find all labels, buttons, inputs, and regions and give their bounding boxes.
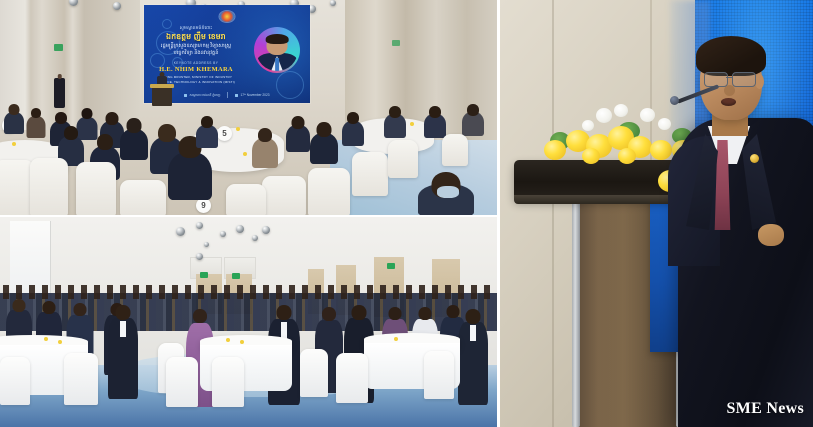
table-flower (243, 152, 247, 156)
member-head (127, 118, 142, 133)
member-body (168, 152, 212, 200)
attendee-head (419, 307, 432, 320)
event-chair (352, 152, 388, 196)
exit-sign-icon (392, 40, 400, 46)
member-body (286, 125, 310, 152)
slide-title-khmer: ឯកឧត្តម ញឹម ខេមរា (148, 32, 244, 43)
event-chair (336, 353, 368, 403)
exit-sign-icon (54, 44, 63, 51)
exit-sign-icon (200, 272, 208, 278)
location-icon (184, 94, 187, 97)
event-chair (212, 357, 244, 407)
wall-seam (552, 0, 554, 427)
audience-member (384, 106, 406, 138)
member-body (342, 121, 364, 146)
member-body (26, 116, 45, 138)
lectern-flowers (150, 84, 174, 88)
calendar-icon (235, 94, 238, 97)
slide-date-text: 17ᵗʰ November 2023 (240, 93, 269, 97)
speaker-hair (696, 36, 766, 76)
audience-member (120, 118, 148, 160)
audience-member (462, 104, 484, 136)
attendee-shirt (120, 321, 126, 337)
slide-welcome-khmer: សូមស្វាគមន៍ចំពោះ (150, 25, 242, 32)
eyeglasses-bridge (726, 77, 732, 78)
flower-yellow (544, 140, 566, 160)
audience-member (4, 104, 24, 134)
avatar-hair (266, 34, 289, 44)
table-flower (394, 337, 398, 341)
ceiling-sphere-decor (330, 0, 336, 6)
event-chair (424, 351, 454, 399)
slide-venue-text: សណ្ឋាគារ រាជធានី ភ្នំពេញ (189, 93, 220, 98)
event-chair (76, 162, 116, 215)
flower-white (614, 104, 628, 117)
flower-white (640, 108, 655, 122)
audience-member (252, 128, 278, 168)
table-flower (236, 127, 240, 131)
ceiling-sphere-decor (252, 235, 258, 241)
flower-white (582, 120, 594, 131)
attendee-head (73, 303, 86, 316)
member-head (389, 106, 401, 118)
attendee-head (13, 299, 26, 312)
member-head (106, 112, 119, 125)
member-body (120, 129, 148, 160)
hall-lectern (152, 84, 172, 106)
member-head (317, 122, 332, 137)
member-head (31, 108, 41, 118)
attendee-head (322, 307, 336, 321)
eyeglasses-right-lens (732, 72, 756, 87)
slide-venue: សណ្ឋាគារ រាជធានី ភ្នំពេញ (184, 93, 220, 98)
attendee-head (466, 309, 481, 324)
table-flower (58, 340, 62, 344)
event-chair (120, 180, 166, 215)
member-head (429, 106, 441, 118)
audience-member (342, 112, 364, 146)
audience-member (424, 106, 446, 138)
event-chair (300, 349, 328, 397)
member-head (201, 116, 213, 128)
vertical-divider (497, 0, 500, 427)
attendee-shirt (470, 325, 476, 341)
event-chair (166, 357, 198, 407)
podium-rail (572, 200, 580, 427)
lapel-pin-icon (750, 154, 759, 163)
attendee-body (54, 78, 65, 108)
member-head (258, 128, 272, 142)
flower-white (658, 118, 671, 130)
member-head (292, 116, 305, 129)
slide-footer: សណ្ឋាគារ រាជធានី ភ្នំពេញ 17ᵗʰ November 2… (154, 92, 300, 98)
table-flower (240, 340, 244, 344)
ceiling-sphere-decor (176, 227, 185, 236)
member-body (4, 112, 24, 134)
flower-yellow (650, 140, 672, 160)
attendee-head (277, 305, 292, 320)
event-chair (30, 158, 68, 215)
speaker-ear (755, 74, 764, 89)
member-head (81, 108, 92, 119)
attendee-head (116, 305, 131, 320)
ceiling-sphere-decor (236, 225, 244, 233)
audience-member (310, 122, 338, 164)
table-flower (226, 338, 230, 342)
horizontal-divider (0, 215, 497, 217)
event-chair (226, 184, 266, 215)
ceiling-sphere-decor (196, 253, 203, 260)
event-chair (64, 353, 98, 405)
avatar-inner (256, 29, 298, 71)
member-head (55, 112, 67, 124)
slide-subtitle-khmer-2: បច្ចេកវិទ្យា និងនវានុវត្តន៍ (148, 50, 244, 57)
ceiling-sphere-decor (204, 242, 209, 247)
watermark-sme-news: SME News (726, 400, 804, 418)
audience-member (196, 116, 218, 148)
event-chair (308, 168, 350, 215)
table-number: 9 (196, 198, 211, 213)
event-chair (388, 140, 418, 178)
slide-date: 17ᵗʰ November 2023 (235, 93, 269, 97)
attendee (108, 305, 138, 399)
audience-member (26, 108, 45, 138)
standing-attendee (54, 74, 65, 108)
photo-collage: សូមស្វាគមន៍ចំពោះ ឯកឧត្តម ញឹម ខេមរា រដ្ឋម… (0, 0, 813, 427)
table-flower (12, 142, 16, 146)
ceiling-sphere-decor (220, 231, 226, 237)
table-flower (44, 337, 48, 341)
table-flower (410, 122, 414, 126)
group-photo (0, 217, 497, 427)
attendee-head (193, 309, 207, 323)
exit-sign-icon (232, 273, 240, 279)
microphone-icon (670, 96, 679, 105)
attendee-head (352, 305, 367, 320)
exit-sign-icon (387, 263, 395, 269)
speaker-podium-photo: SME News (500, 0, 813, 427)
speaker-mouth (721, 98, 736, 106)
attendee-head (389, 307, 402, 320)
event-chair (442, 134, 468, 166)
audience-member (286, 116, 310, 152)
speaker-hand (758, 224, 784, 246)
event-chair (262, 176, 306, 215)
member-body (252, 138, 278, 168)
slide-footer-divider (227, 92, 228, 98)
flower-yellow (618, 148, 636, 164)
flower-yellow (582, 148, 600, 164)
attendee (458, 309, 488, 405)
member-head (64, 126, 78, 140)
event-chair (0, 357, 30, 405)
member-body (196, 125, 218, 148)
avatar-tie (275, 58, 279, 71)
ceiling-sphere-decor (262, 226, 270, 234)
event-chair (0, 160, 34, 215)
ceiling-sphere-decor (113, 2, 121, 10)
table-number: 5 (217, 126, 232, 141)
member-head (467, 104, 479, 116)
slide-subtitle-khmer-1: រដ្ឋមន្ត្រីក្រសួងឧស្សាហកម្ម វិទ្យាសាស្ត្… (148, 43, 244, 50)
slide-keynote-label: KEYNOTE ADDRESS BY (150, 61, 242, 65)
member-head (347, 112, 359, 124)
face-mask-icon (437, 186, 459, 198)
attendee-head (43, 301, 56, 314)
ceiling-sphere-decor (196, 222, 203, 229)
member-head (9, 104, 20, 115)
national-emblem-icon (220, 11, 235, 22)
slide-portrait-avatar (254, 27, 300, 73)
attendee-head (57, 74, 62, 79)
flower-white (596, 108, 612, 123)
member-body (310, 133, 338, 164)
conference-hall-photo: សូមស្វាគមន៍ចំពោះ ឯកឧត្តម ញឹម ខេមរា រដ្ឋម… (0, 0, 497, 215)
member-head (97, 134, 113, 150)
